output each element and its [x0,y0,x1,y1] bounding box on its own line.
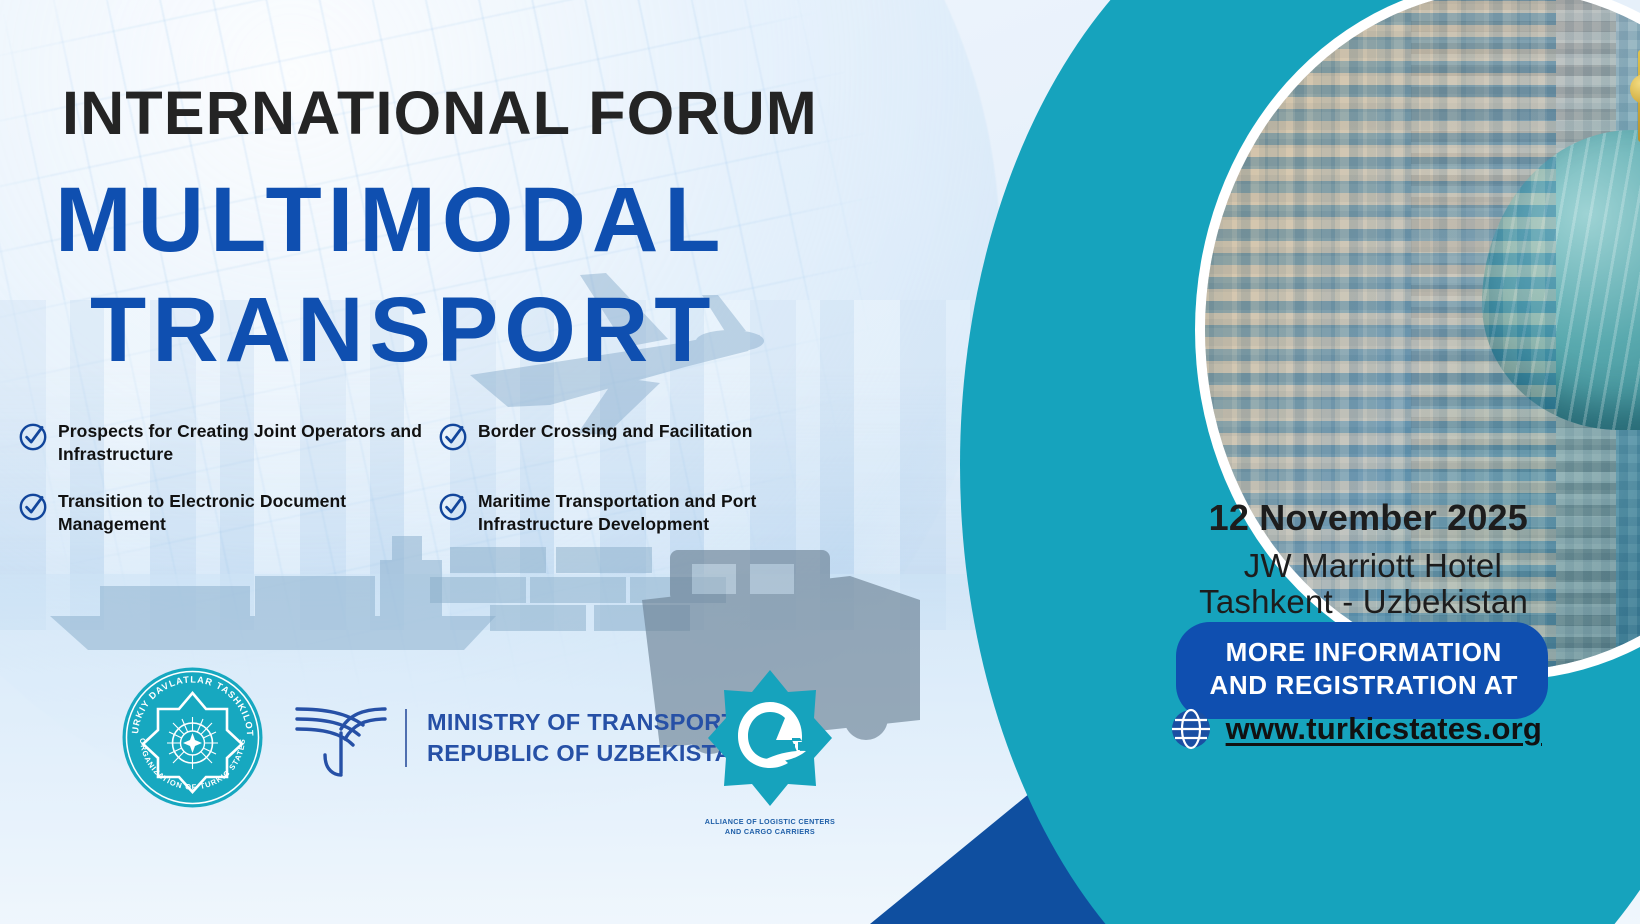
event-date: 12 November 2025 [1209,497,1528,539]
check-circle-icon [18,421,48,451]
website-link-row[interactable]: www.turkicstates.org [1170,708,1542,750]
cta-line-2: AND REGISTRATION AT [1210,669,1518,702]
topic-item: Border Crossing and Facilitation [438,420,858,466]
eyebrow-heading: INTERNATIONAL FORUM [62,78,818,148]
title-line-1: MULTIMODAL [55,175,726,266]
alliance-logo-block: ALLIANCE OF LOGISTIC CENTERS AND CARGO C… [700,668,840,836]
title-line-2: TRANSPORT [90,285,716,376]
cta-line-1: MORE INFORMATION [1210,636,1518,669]
teal-circle-panel [960,0,1640,924]
alliance-caption: ALLIANCE OF LOGISTIC CENTERS AND CARGO C… [700,817,840,836]
event-venue: JW Marriott Hotel [1244,545,1502,587]
ministry-of-transport-logo [291,699,391,777]
check-circle-icon [438,491,468,521]
ministry-of-transport-block: MINISTRY OF TRANSPORT REPUBLIC OF UZBEKI… [291,699,749,777]
forum-banner: INTERNATIONAL FORUM MULTIMODAL TRANSPORT… [0,0,1640,924]
topic-label: Border Crossing and Facilitation [478,420,752,443]
mosque-dome [1482,130,1640,430]
alliance-caption-line-2: AND CARGO CARRIERS [700,827,840,837]
topic-item: Transition to Electronic Document Manage… [18,490,438,536]
logo-strip: TURKIY DAVLATLAR TASHKILOTI ORGANIZATION… [120,665,749,810]
event-city: Tashkent - Uzbekistan [1199,583,1528,621]
topic-label: Transition to Electronic Document Manage… [58,490,438,536]
alliance-of-logistic-centers-logo [706,668,834,808]
check-circle-icon [438,421,468,451]
logo-divider [405,709,407,767]
check-circle-icon [18,491,48,521]
website-url[interactable]: www.turkicstates.org [1226,711,1542,747]
globe-icon [1170,708,1212,750]
alliance-caption-line-1: ALLIANCE OF LOGISTIC CENTERS [700,817,840,827]
organization-of-turkic-states-logo: TURKIY DAVLATLAR TASHKILOTI ORGANIZATION… [120,665,265,810]
topic-item: Maritime Transportation and Port Infrast… [438,490,858,536]
topic-item: Prospects for Creating Joint Operators a… [18,420,438,466]
registration-cta-button[interactable]: MORE INFORMATION AND REGISTRATION AT [1176,622,1548,719]
topics-list: Prospects for Creating Joint Operators a… [18,420,858,536]
topic-label: Maritime Transportation and Port Infrast… [478,490,858,536]
topic-label: Prospects for Creating Joint Operators a… [58,420,438,466]
